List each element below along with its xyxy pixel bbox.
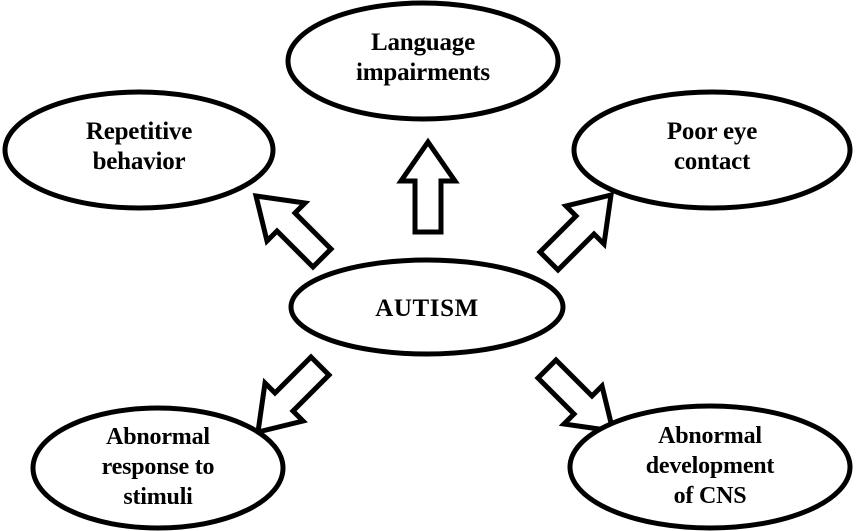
node-abnormal-development-of-cns[interactable] <box>570 406 850 528</box>
node-abnormal-response-to-stimuli[interactable] <box>33 408 283 528</box>
diagram-canvas <box>0 0 863 531</box>
arrow-up-left-icon <box>256 196 331 267</box>
arrow-down-right-icon <box>538 360 613 431</box>
node-autism-center[interactable] <box>291 260 563 354</box>
arrow-up-icon <box>401 142 455 232</box>
node-poor-eye-contact[interactable] <box>574 92 850 208</box>
arrow-up-right-icon <box>540 195 611 270</box>
autism-concept-diagram: Language impairments Repetitive behavior… <box>0 0 863 531</box>
node-language-impairments[interactable] <box>288 3 558 119</box>
node-repetitive-behavior[interactable] <box>5 92 273 208</box>
arrow-down-left-icon <box>258 357 329 432</box>
